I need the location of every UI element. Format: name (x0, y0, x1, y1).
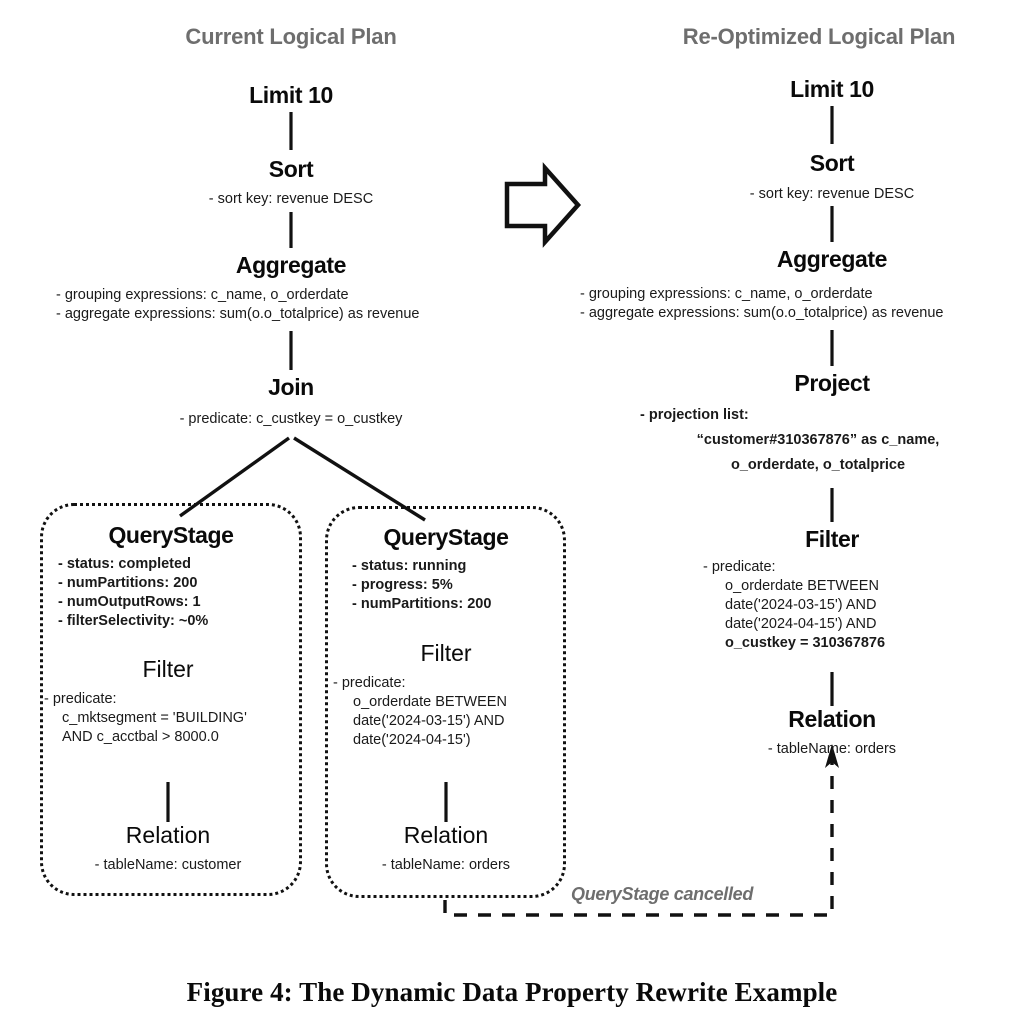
right-node-limit-title: Limit 10 (732, 76, 932, 103)
qs2-relation-title: Relation (326, 822, 566, 849)
qs2-filter-predicate-line2: date('2024-03-15') AND (333, 712, 583, 731)
qs2-relation-detail: - tableName: orders (326, 856, 566, 875)
qs1-filter-details: - predicate: c_mktsegment = 'BUILDING' A… (44, 690, 314, 747)
right-filter-predicate-line3: date('2024-04-15') AND (703, 615, 1003, 634)
qs1-metric-filterselectivity: - filterSelectivity: ~0% (58, 612, 298, 631)
qs1-filter-title: Filter (48, 656, 288, 683)
qs1-filter-predicate-line1: c_mktsegment = 'BUILDING' (44, 709, 314, 728)
qs1-metrics: - status: completed - numPartitions: 200… (58, 555, 298, 631)
left-node-aggregate-title: Aggregate (191, 252, 391, 279)
right-filter-predicate-highlight: o_custkey = 310367876 (703, 634, 1003, 653)
left-node-sort-detail: - sort key: revenue DESC (141, 190, 441, 209)
right-node-aggregate-details: - grouping expressions: c_name, o_orderd… (580, 285, 1024, 323)
left-node-join-title: Join (191, 374, 391, 401)
qs2-title: QueryStage (326, 524, 566, 551)
right-filter-predicate-line2: date('2024-03-15') AND (703, 596, 1003, 615)
right-aggregate-detail-aggexpr: - aggregate expressions: sum(o.o_totalpr… (580, 304, 1024, 323)
right-node-relation-title: Relation (732, 706, 932, 733)
qs1-metric-status: - status: completed (58, 555, 298, 574)
right-node-aggregate-title: Aggregate (732, 246, 932, 273)
qs2-metric-status: - status: running (352, 557, 572, 576)
qs1-metric-numoutputrows: - numOutputRows: 1 (58, 593, 298, 612)
qs2-filter-predicate-line3: date('2024-04-15') (333, 731, 583, 750)
left-node-join-detail: - predicate: c_custkey = o_custkey (121, 410, 461, 429)
right-node-relation-detail: - tableName: orders (712, 740, 952, 759)
qs2-metrics: - status: running - progress: 5% - numPa… (352, 557, 572, 614)
left-node-limit-title: Limit 10 (191, 82, 391, 109)
qs2-metric-numpartitions: - numPartitions: 200 (352, 595, 572, 614)
qs1-metric-numpartitions: - numPartitions: 200 (58, 574, 298, 593)
left-aggregate-detail-grouping: - grouping expressions: c_name, o_orderd… (56, 286, 536, 305)
qs1-relation-title: Relation (48, 822, 288, 849)
right-node-project-title: Project (732, 370, 932, 397)
right-block-arrow-icon (507, 168, 578, 242)
figure-caption: Figure 4: The Dynamic Data Property Rewr… (0, 977, 1024, 1008)
right-node-project-details: - projection list: “customer#310367876” … (640, 403, 1024, 478)
querystage-cancelled-label: QueryStage cancelled (571, 884, 753, 905)
left-node-aggregate-details: - grouping expressions: c_name, o_orderd… (56, 286, 536, 324)
left-node-sort-title: Sort (191, 156, 391, 183)
qs1-filter-predicate-line2: AND c_acctbal > 8000.0 (44, 728, 314, 747)
qs2-filter-title: Filter (326, 640, 566, 667)
right-aggregate-detail-grouping: - grouping expressions: c_name, o_orderd… (580, 285, 1024, 304)
right-plan-title: Re-Optimized Logical Plan (639, 24, 999, 50)
right-project-detail-label: - projection list: (640, 403, 1024, 428)
right-filter-predicate-label: - predicate: (703, 558, 1003, 577)
qs2-metric-progress: - progress: 5% (352, 576, 572, 595)
right-node-filter-details: - predicate: o_orderdate BETWEEN date('2… (703, 558, 1003, 653)
right-project-detail-line2: o_orderdate, o_totalprice (640, 453, 996, 478)
right-node-filter-title: Filter (732, 526, 932, 553)
qs1-relation-detail: - tableName: customer (48, 856, 288, 875)
right-filter-predicate-line1: o_orderdate BETWEEN (703, 577, 1003, 596)
qs2-filter-predicate-line1: o_orderdate BETWEEN (333, 693, 583, 712)
left-plan-title: Current Logical Plan (141, 24, 441, 50)
qs1-filter-predicate-label: - predicate: (44, 690, 314, 709)
right-node-sort-detail: - sort key: revenue DESC (682, 185, 982, 204)
qs2-filter-predicate-label: - predicate: (333, 674, 583, 693)
qs2-filter-details: - predicate: o_orderdate BETWEEN date('2… (333, 674, 583, 750)
right-node-sort-title: Sort (732, 150, 932, 177)
figure-canvas: Current Logical Plan Limit 10 Sort - sor… (0, 0, 1024, 1034)
right-project-detail-line1: “customer#310367876” as c_name, (640, 428, 996, 453)
qs1-title: QueryStage (48, 522, 294, 549)
left-aggregate-detail-aggexpr: - aggregate expressions: sum(o.o_totalpr… (56, 305, 536, 324)
